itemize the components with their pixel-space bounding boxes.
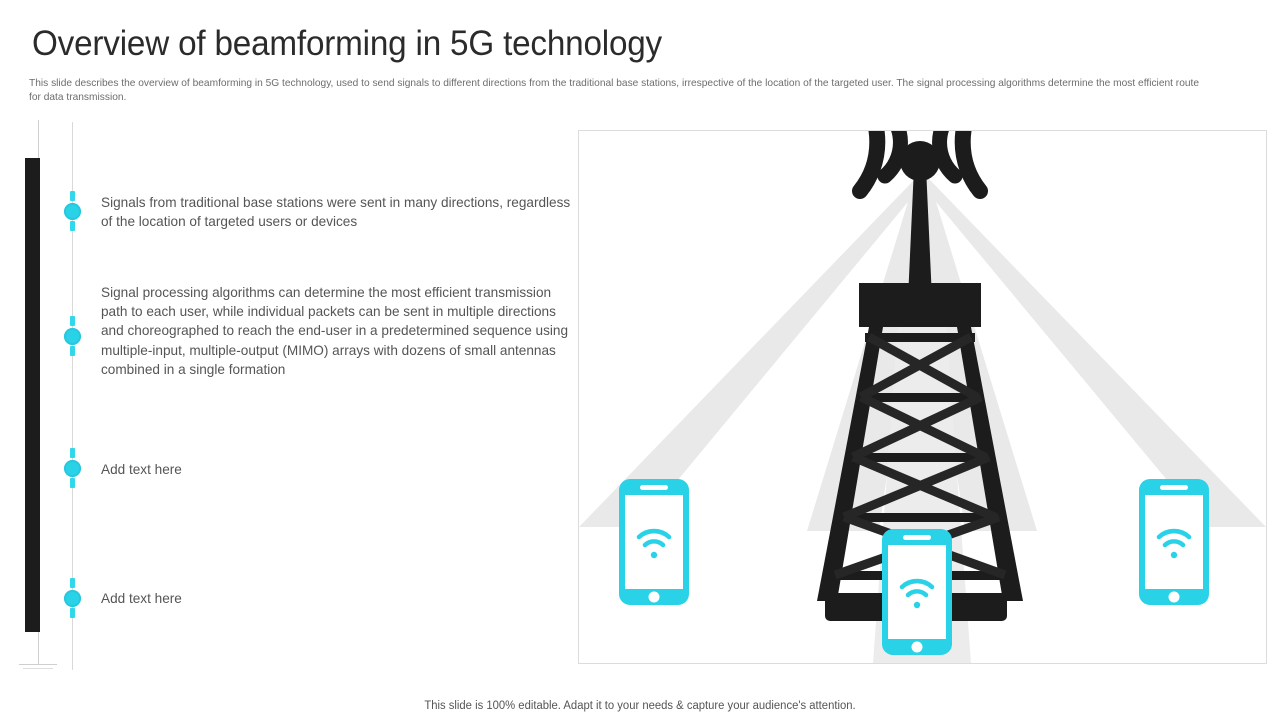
marker-tick-bottom-icon [70,608,75,618]
marker-tick-top-icon [70,316,75,326]
marker-tick-bottom-icon [70,346,75,356]
tower-platform [859,283,981,327]
stem-base-line-secondary [23,668,53,669]
illustration-panel [578,130,1267,664]
bullet-marker-3[interactable] [64,448,81,488]
marker-tick-bottom-icon [70,221,75,231]
stem-base-line [19,664,57,665]
bullet-marker-2[interactable] [64,316,81,356]
page-subtitle: This slide describes the overview of bea… [29,77,1203,104]
bullet-marker-4[interactable] [64,578,81,618]
bullet-item-4: Add text here [101,589,571,608]
beamforming-illustration [579,131,1266,663]
bullet-marker-1[interactable] [64,191,81,231]
marker-tick-top-icon [70,191,75,201]
bullet-item-1: Signals from traditional base stations w… [101,193,571,231]
marker-dot-icon [64,328,81,345]
bullet-item-2: Signal processing algorithms can determi… [101,283,571,379]
marker-tick-top-icon [70,448,75,458]
page-title: Overview of beamforming in 5G technology [32,24,662,64]
smartphone-right[interactable] [1139,479,1209,605]
marker-dot-icon [64,460,81,477]
smartphone-left[interactable] [619,479,689,605]
bullet-item-3: Add text here [101,460,571,479]
marker-tick-bottom-icon [70,478,75,488]
smartphone-center[interactable] [882,529,952,655]
marker-dot-icon [64,590,81,607]
footer-note: This slide is 100% editable. Adapt it to… [13,700,1267,712]
accent-black-bar [25,158,40,632]
marker-tick-top-icon [70,578,75,588]
marker-dot-icon [64,203,81,220]
slide-root: Overview of beamforming in 5G technology… [0,0,1280,720]
